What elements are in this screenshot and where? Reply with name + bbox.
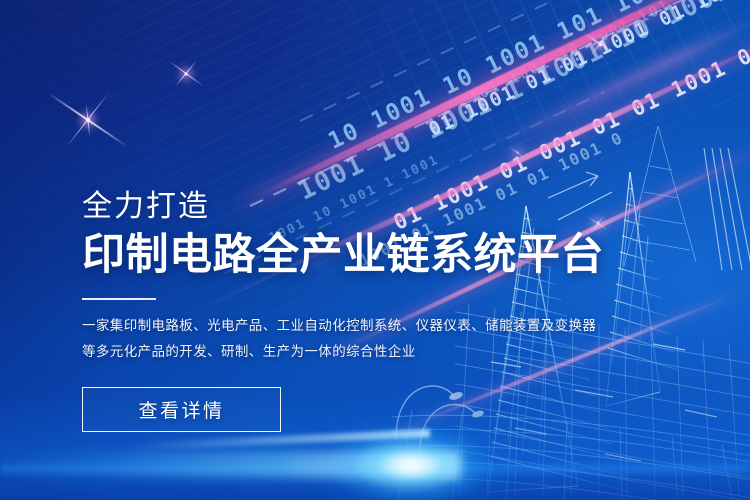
hero-eyebrow: 全力打造	[82, 192, 602, 222]
hero-description-line: 一家集印制电路板、光电产品、工业自动化控制系统、仪器仪表、储能装置及变换器	[82, 313, 602, 339]
hero-headline: 印制电路全产业链系统平台	[82, 233, 602, 279]
hero-divider	[82, 298, 156, 300]
hero-description: 一家集印制电路板、光电产品、工业自动化控制系统、仪器仪表、储能装置及变换器 等多…	[82, 313, 602, 365]
view-details-button[interactable]: 查看详情	[82, 387, 281, 432]
hero-description-line: 等多元化产品的开发、研制、生产为一体的综合性企业	[82, 339, 602, 365]
hero-text-block: 全力打造 印制电路全产业链系统平台 一家集印制电路板、光电产品、工业自动化控制系…	[82, 192, 602, 432]
hero-banner: 101 1001 10 1001 101 01 1001 01 01 1001 …	[0, 0, 750, 500]
